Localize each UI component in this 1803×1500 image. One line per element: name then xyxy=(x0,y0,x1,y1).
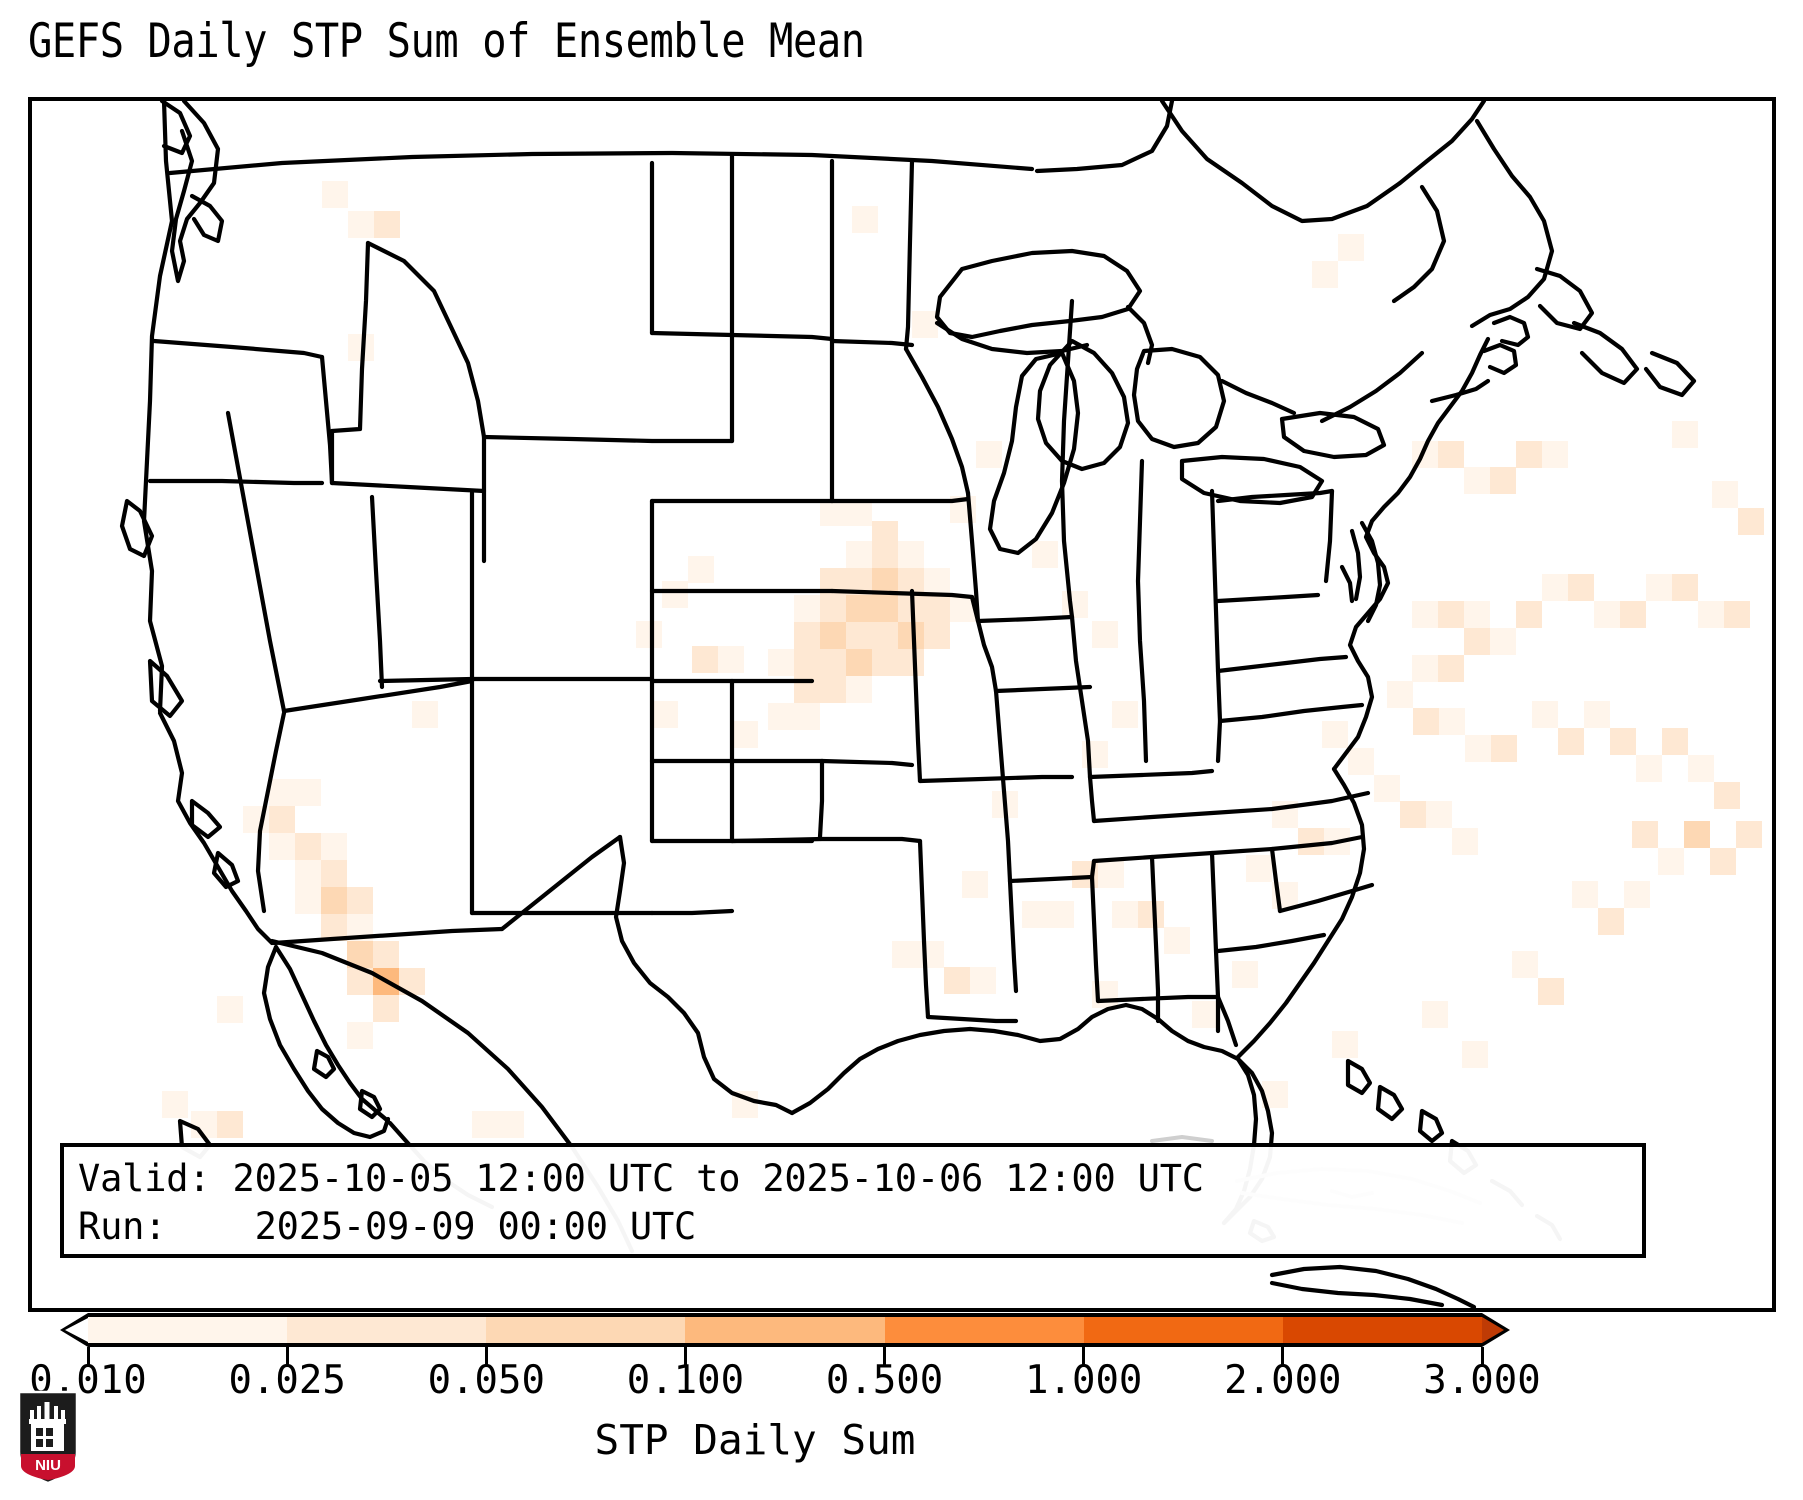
map-panel[interactable] xyxy=(28,97,1776,1312)
colorbar-under-arrow-fill xyxy=(65,1318,88,1342)
colorbar-segment-2 xyxy=(486,1317,685,1343)
niu-logo-text: NIU xyxy=(35,1457,61,1474)
colorbar-gradient[interactable] xyxy=(88,1313,1482,1347)
page-title: GEFS Daily STP Sum of Ensemble Mean xyxy=(28,14,865,70)
niu-logo: NIU xyxy=(17,1390,79,1485)
colorbar-tick-label-2: 0.050 xyxy=(428,1358,545,1404)
colorbar-segment-3 xyxy=(685,1317,884,1343)
colorbar-tick-labels: 0.0100.0250.0500.1000.5001.0002.0003.000 xyxy=(0,1358,1510,1408)
run-time-line: Run: 2025-09-09 00:00 UTC xyxy=(78,1203,1628,1251)
info-box: Valid: 2025-10-05 12:00 UTC to 2025-10-0… xyxy=(60,1143,1646,1258)
map-geography xyxy=(122,101,1694,1307)
valid-time-line: Valid: 2025-10-05 12:00 UTC to 2025-10-0… xyxy=(78,1155,1628,1203)
colorbar-segment-1 xyxy=(287,1317,486,1343)
colorbar-axis-label: STP Daily Sum xyxy=(0,1415,1510,1465)
colorbar-tick-label-1: 0.025 xyxy=(228,1358,345,1404)
colorbar-over-arrow-fill xyxy=(1482,1317,1504,1343)
colorbar-tick-label-4: 0.500 xyxy=(826,1358,943,1404)
colorbar-segment-0 xyxy=(88,1317,287,1343)
colorbar-tick-label-5: 1.000 xyxy=(1025,1358,1142,1404)
colorbar-segment-4 xyxy=(885,1317,1084,1343)
colorbar-segment-6 xyxy=(1283,1317,1482,1343)
colorbar-tick-label-7: 3.000 xyxy=(1423,1358,1540,1404)
colorbar-tick-label-6: 2.000 xyxy=(1224,1358,1341,1404)
colorbar-segment-5 xyxy=(1084,1317,1283,1343)
map-canvas xyxy=(32,101,1772,1308)
colorbar[interactable] xyxy=(60,1311,1510,1353)
niu-shield-icon: NIU xyxy=(17,1390,79,1485)
colorbar-tick-label-3: 0.100 xyxy=(627,1358,744,1404)
gefs-stp-map-page: GEFS Daily STP Sum of Ensemble Mean xyxy=(0,0,1803,1500)
